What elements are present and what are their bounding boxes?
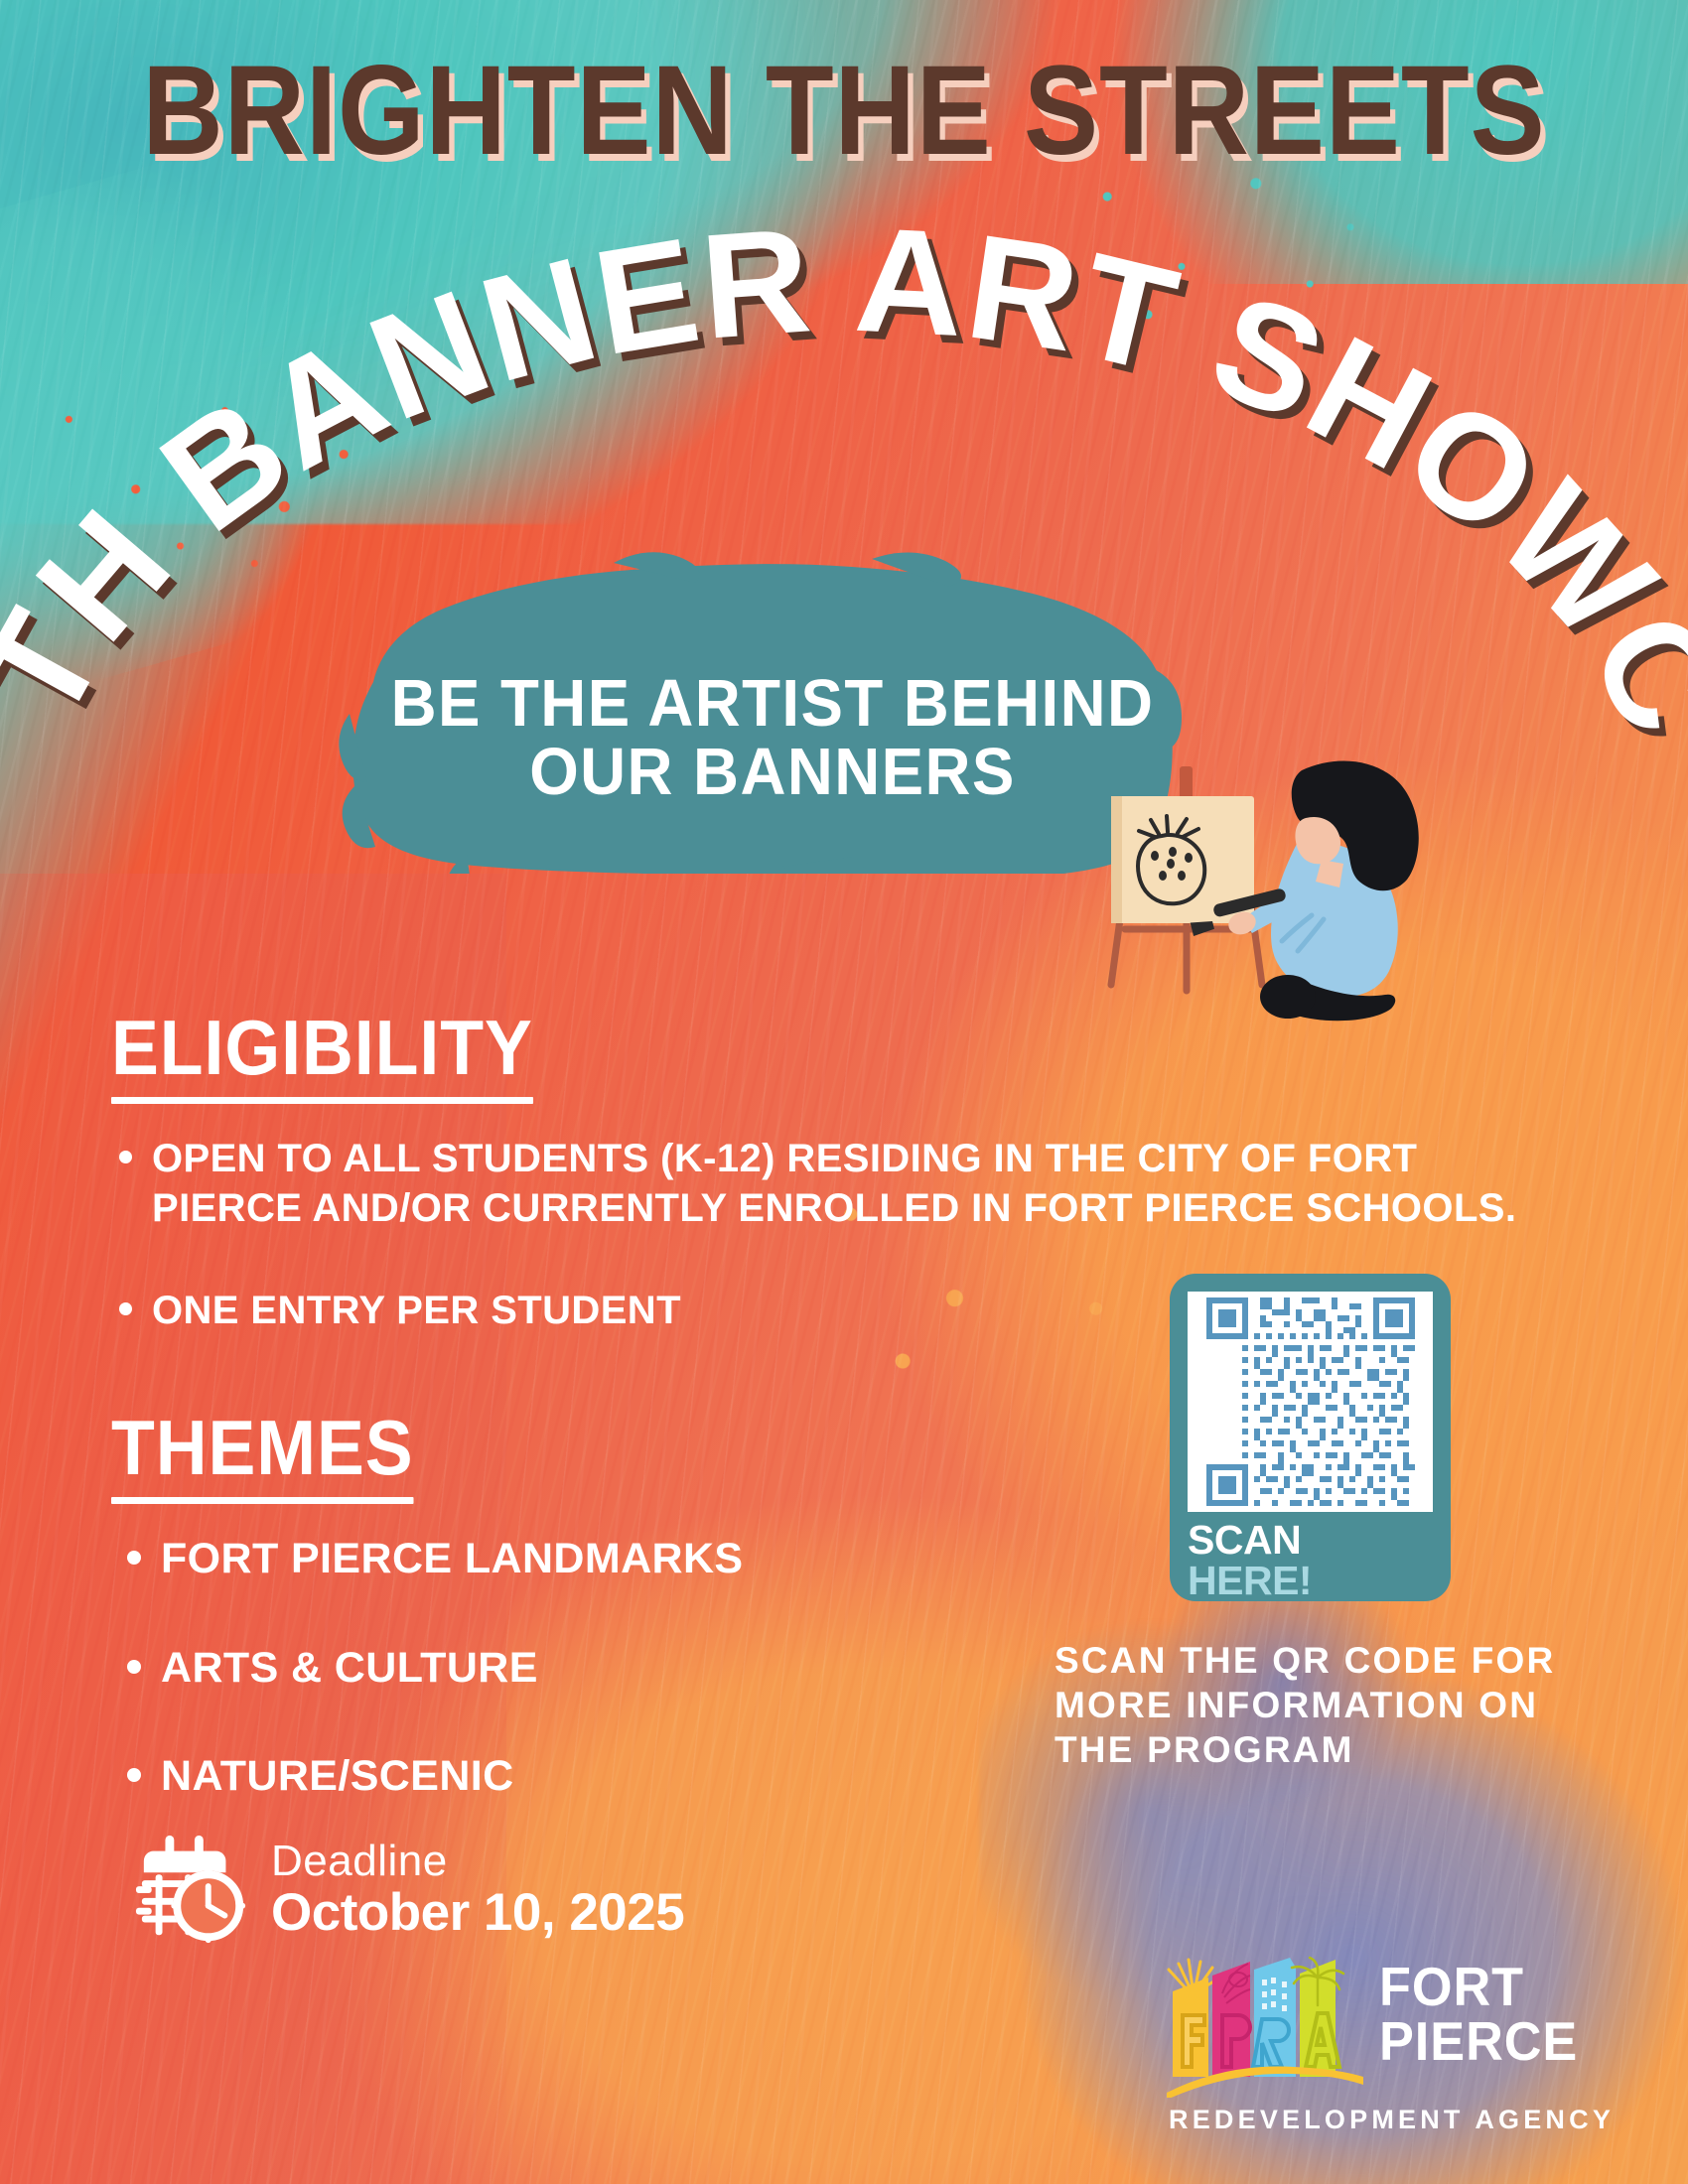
list-item-label: ARTS & CULTURE (161, 1643, 538, 1695)
bullet-dot-icon (127, 1551, 141, 1565)
bullet-dot-icon (119, 1302, 132, 1315)
shoe (1260, 975, 1316, 1019)
deadline-text: Deadline October 10, 2025 (271, 1839, 684, 1941)
canvas-edge (1111, 796, 1122, 923)
fpra-logo: FORT PIERCE REDEVELOPMENT AGENCY (1167, 1954, 1633, 2142)
deadline-date: October 10, 2025 (271, 1884, 684, 1941)
poster-headline: BRIGHTEN THE STREETS (101, 38, 1587, 184)
poster-canvas: BRIGHTEN THE STREETS YOUTH BANNER ART SH… (0, 0, 1688, 2184)
qr-code-icon (1200, 1292, 1421, 1512)
qr-caption-scan: SCAN (1188, 1517, 1301, 1563)
list-item: ARTS & CULTURE (127, 1643, 1021, 1695)
list-item-label: FORT PIERCE LANDMARKS (161, 1534, 744, 1585)
banner-line-1: BE THE ARTIST BEHIND (391, 670, 1155, 738)
deadline-label: Deadline (271, 1839, 684, 1884)
logo-panel-a (1292, 1958, 1343, 2077)
list-item: NATURE/SCENIC (127, 1751, 1021, 1803)
list-item-label: OPEN TO ALL STUDENTS (K-12) RESIDING IN … (152, 1134, 1549, 1234)
qr-code-card[interactable]: SCAN HERE! (1170, 1274, 1451, 1601)
qr-instructions: SCAN THE QR CODE FOR MORE INFORMATION ON… (1055, 1638, 1611, 1772)
logo-wordmark: FORT PIERCE (1379, 1960, 1578, 2069)
logo-word-fort: FORT (1379, 1960, 1578, 2014)
logo-tagline: REDEVELOPMENT AGENCY (1169, 2105, 1615, 2135)
logo-panel-r (1253, 1958, 1296, 2077)
bullet-dot-icon (119, 1151, 132, 1163)
list-item: FORT PIERCE LANDMARKS (127, 1534, 1021, 1585)
eligibility-heading: ELIGIBILITY (111, 1003, 533, 1104)
deadline-block: Deadline October 10, 2025 (134, 1832, 684, 1949)
child-painting-illustration (1067, 735, 1435, 1023)
logo-word-pierce: PIERCE (1379, 2014, 1578, 2069)
fpra-logo-mark (1167, 1954, 1365, 2098)
logo-panel-p (1212, 1962, 1250, 2077)
qr-caption-here: HERE! (1188, 1558, 1312, 1603)
calendar-clock-icon (134, 1832, 251, 1949)
banner-line-2: OUR BANNERS (529, 739, 1016, 806)
themes-heading: THEMES (111, 1403, 414, 1504)
bullet-dot-icon (127, 1660, 141, 1674)
list-item: OPEN TO ALL STUDENTS (K-12) RESIDING IN … (119, 1134, 1549, 1234)
qr-caption: SCAN HERE! (1188, 1520, 1433, 1601)
bullet-dot-icon (127, 1768, 141, 1782)
themes-list: FORT PIERCE LANDMARKS ARTS & CULTURE NAT… (127, 1534, 1021, 1860)
qr-code-frame (1188, 1292, 1433, 1512)
list-item-label: ONE ENTRY PER STUDENT (152, 1286, 681, 1335)
list-item-label: NATURE/SCENIC (161, 1751, 514, 1803)
